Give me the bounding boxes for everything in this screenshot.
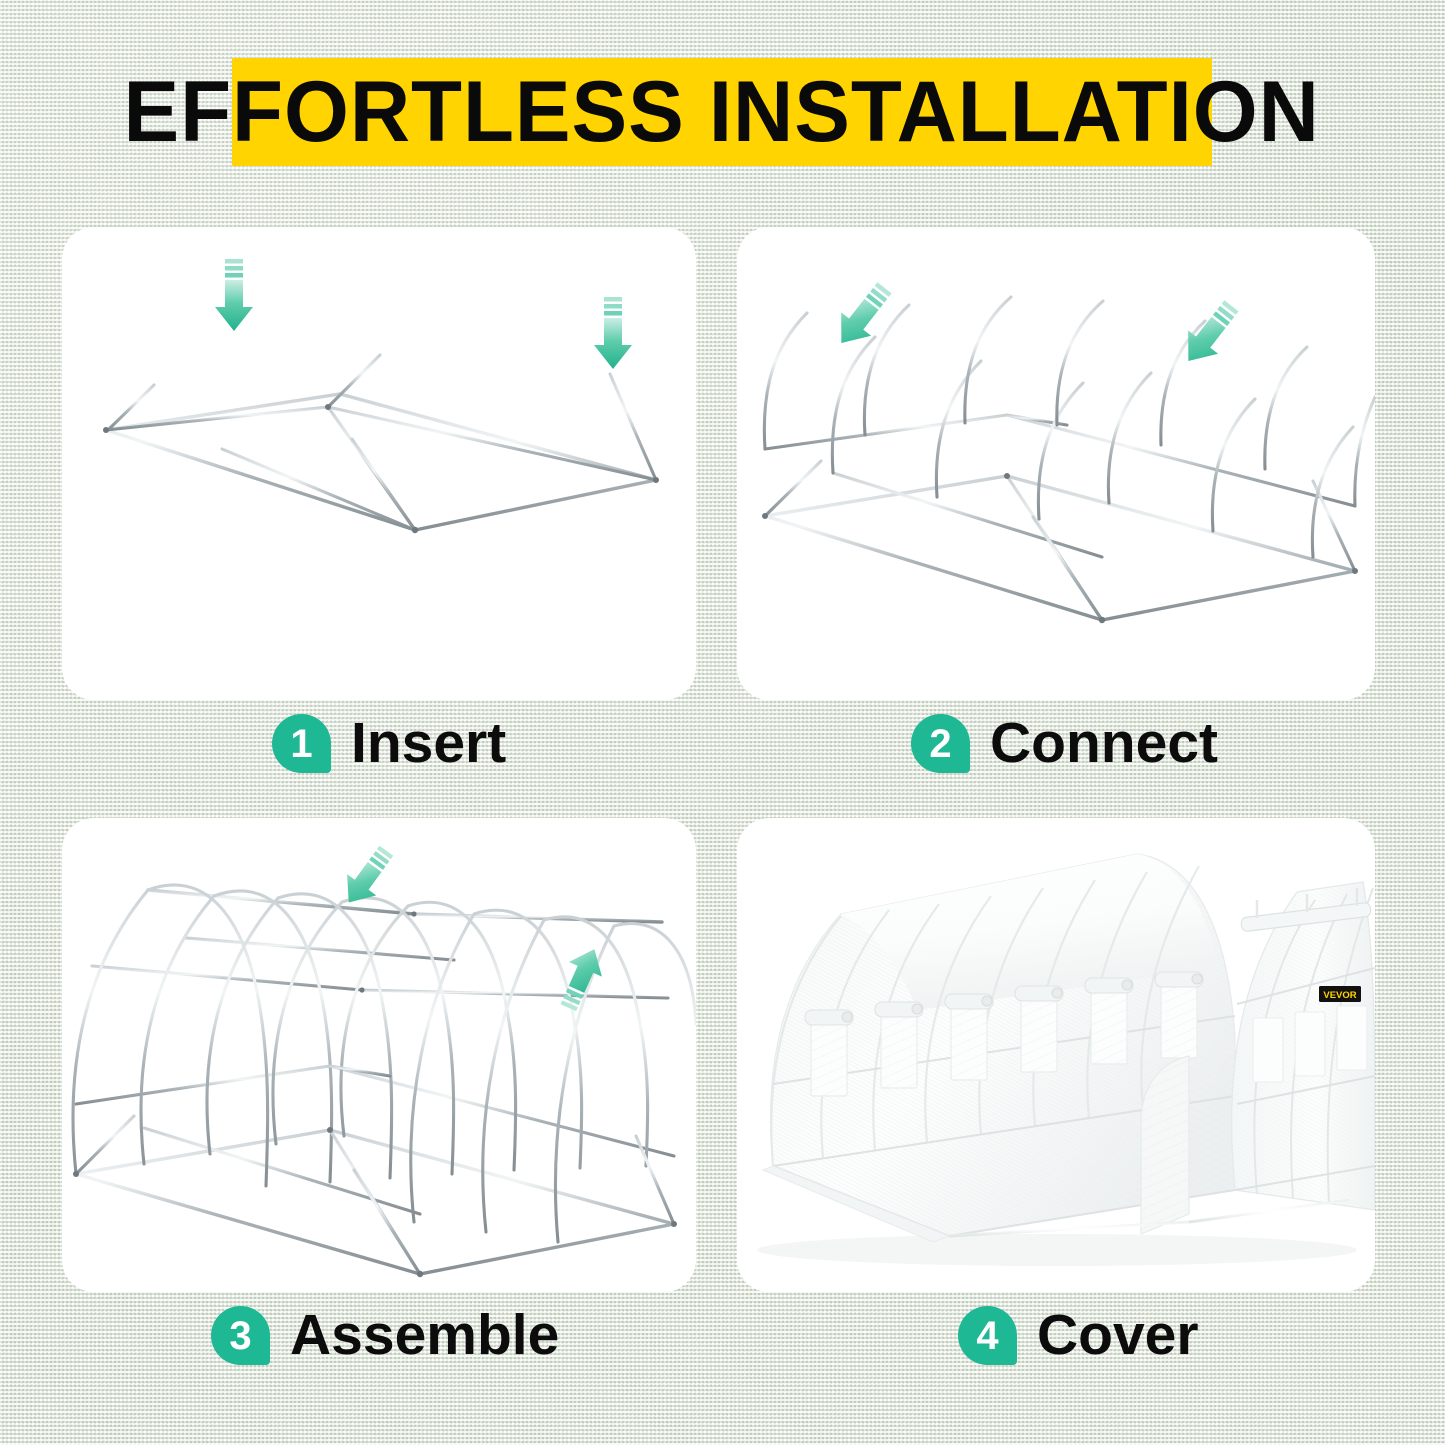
illustration-covered-greenhouse: VEVOR [737, 818, 1375, 1292]
step-caption-4: 4 Cover [958, 1306, 1199, 1365]
title-banner: EFFORTLESS INSTALLATION [232, 58, 1212, 166]
vevor-badge-text: VEVOR [1323, 990, 1356, 1001]
insert-arrow-right [594, 297, 632, 369]
illustration-base-frame [62, 227, 696, 700]
step-card-1 [62, 227, 696, 700]
step-caption-3: 3 Assemble [211, 1306, 559, 1365]
step-card-2 [737, 227, 1375, 700]
illustration-complete-frame [62, 818, 696, 1292]
step-card-4: VEVOR [737, 818, 1375, 1292]
step-card-3 [62, 818, 696, 1292]
illustration-half-hoops [737, 227, 1375, 700]
connect-arrow-right [1173, 294, 1246, 373]
step-badge-3: 3 [211, 1306, 270, 1365]
step-label-2: Connect [990, 715, 1218, 772]
step-badge-4: 4 [958, 1306, 1017, 1365]
connect-arrow-left [826, 276, 899, 355]
step-badge-2: 2 [911, 714, 970, 773]
step-badge-1: 1 [272, 714, 331, 773]
step-label-4: Cover [1037, 1307, 1199, 1364]
vevor-badge: VEVOR [1319, 986, 1361, 1002]
step-caption-1: 1 Insert [272, 714, 506, 773]
step-label-3: Assemble [290, 1307, 559, 1364]
step-label-1: Insert [351, 715, 506, 772]
insert-arrow-left [215, 259, 253, 331]
page-title: EFFORTLESS INSTALLATION [124, 69, 1320, 155]
step-caption-2: 2 Connect [911, 714, 1218, 773]
